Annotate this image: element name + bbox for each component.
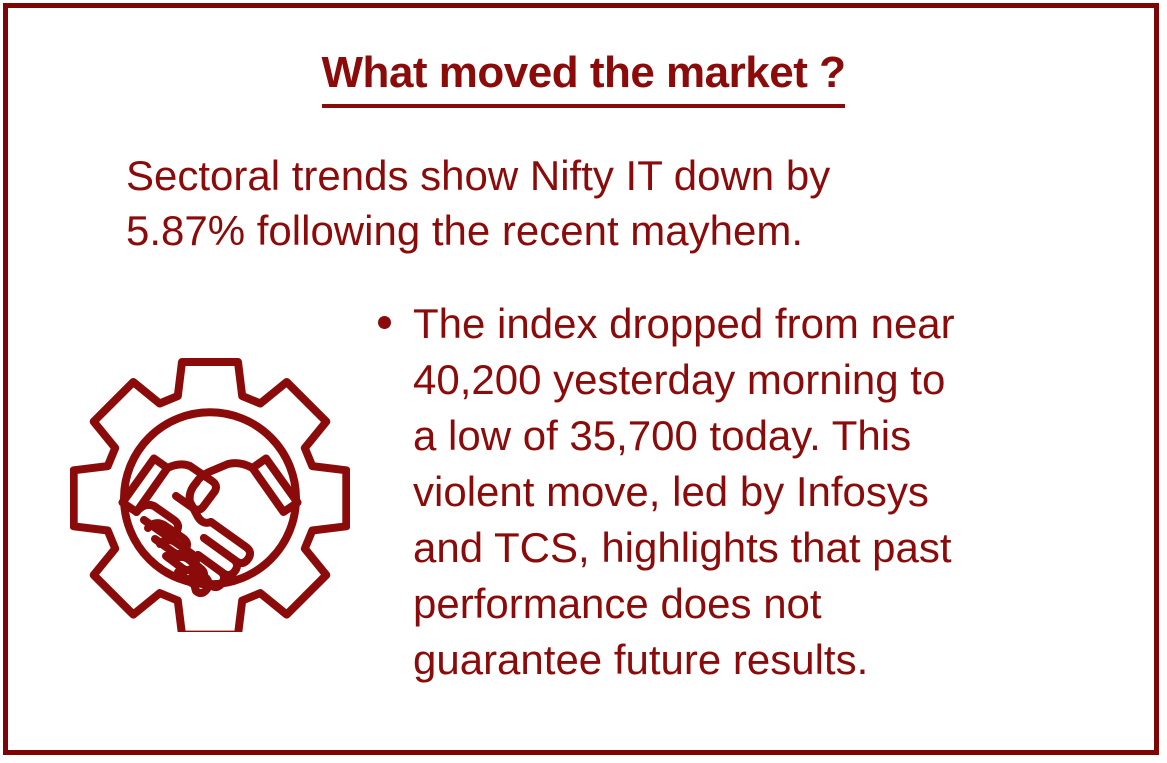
bullet-line-7: guarantee future results. <box>413 632 1088 688</box>
gear-handshake-icon <box>70 350 350 632</box>
subtitle-block: Sectoral trends show Nifty IT down by 5.… <box>126 148 1026 258</box>
bullet-line-3: a low of 35,700 today. This <box>413 408 1088 464</box>
slide-canvas: What moved the market ? Sectoral trends … <box>0 0 1167 763</box>
subtitle-line-1: Sectoral trends show Nifty IT down by <box>126 148 1026 203</box>
page-title-text: What moved the market ? <box>322 48 846 108</box>
bullet-line-6: performance does not <box>413 576 1088 632</box>
bullet-text: The index dropped from near 40,200 yeste… <box>413 296 1088 688</box>
page-title: What moved the market ? <box>0 48 1167 108</box>
bullet-line-2: 40,200 yesterday morning to <box>413 352 1088 408</box>
bullet-list: The index dropped from near 40,200 yeste… <box>378 296 1088 688</box>
subtitle-line-2: 5.87% following the recent mayhem. <box>126 203 1026 258</box>
bullet-marker <box>378 296 413 329</box>
bullet-line-4: violent move, led by Infosys <box>413 464 1088 520</box>
bullet-line-5: and TCS, highlights that past <box>413 520 1088 576</box>
list-item: The index dropped from near 40,200 yeste… <box>378 296 1088 688</box>
bullet-line-1: The index dropped from near <box>413 296 1088 352</box>
